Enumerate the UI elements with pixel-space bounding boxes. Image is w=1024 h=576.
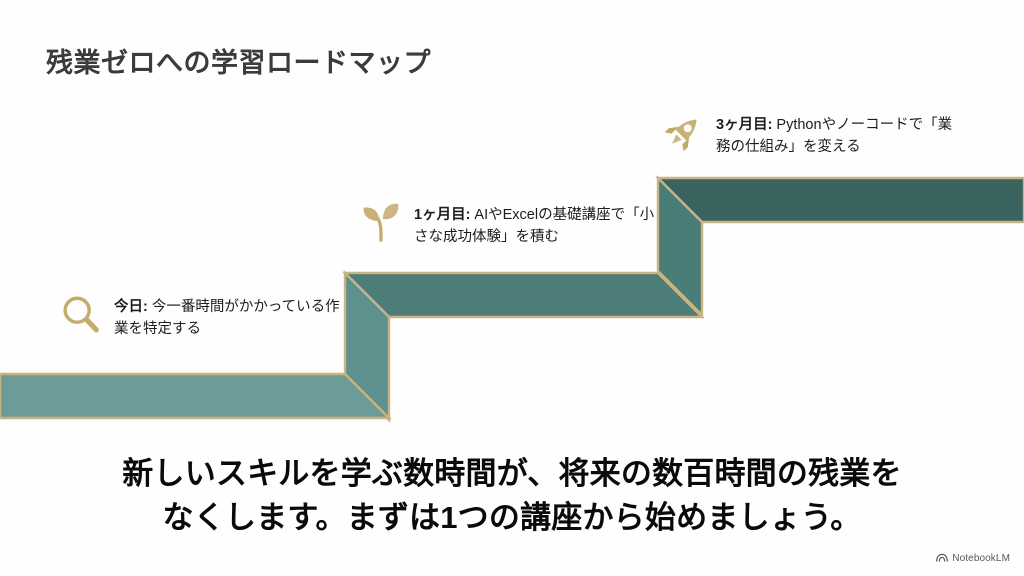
step-2-tread [345,273,702,317]
step-item-month-1-label: 1ヶ月目: AIやExcelの基礎講座で「小さな成功体験」を積む [414,204,658,249]
step-item-month-3-prefix: 3ヶ月目: [716,117,776,133]
step-1-tread [0,374,389,418]
notebooklm-logo-icon [936,553,948,564]
step-3-tread [658,178,1024,222]
step-item-today-prefix: 今日: [114,299,152,315]
step-item-month-3-label: 3ヶ月目: Pythonやノーコードで「業務の仕組み」を変える [716,114,960,159]
step-item-month-3-line1: Pythonやノーコード [776,117,908,133]
page-title: 残業ゼロへの学習ロードマップ [46,41,431,80]
rocket-icon [660,110,706,156]
sprout-icon [358,200,404,246]
magnifier-icon [58,292,104,338]
slide-canvas: 残業ゼロへの学習ロードマップ 今日: 今一番時間がかかっている作業を特定する [0,0,1024,576]
step-item-month-3: 3ヶ月目: Pythonやノーコードで「業務の仕組み」を変える [660,114,960,159]
step-item-today-line1: 今一番時間がかかって [152,299,296,315]
step-item-month-1-prefix: 1ヶ月目: [414,207,474,223]
step-item-today-label: 今日: 今一番時間がかかっている作業を特定する [114,296,346,341]
conclusion-line-1: 新しいスキルを学ぶ数時間が、将来の数百時間の残業を [0,452,1024,496]
conclusion-text: 新しいスキルを学ぶ数時間が、将来の数百時間の残業を なくします。まずは1つの講座… [0,452,1024,540]
watermark-label: NotebookLM [952,553,1010,564]
step-item-today: 今日: 今一番時間がかかっている作業を特定する [58,296,346,341]
step-2-riser [345,273,389,420]
step-item-month-1: 1ヶ月目: AIやExcelの基礎講座で「小さな成功体験」を積む [358,204,658,249]
conclusion-line-2: なくします。まずは1つの講座から始めましょう。 [0,496,1024,540]
step-3-riser [658,178,702,315]
watermark: NotebookLM [936,553,1010,564]
step-item-month-1-line1: AIやExcelの基礎講座 [474,207,610,223]
